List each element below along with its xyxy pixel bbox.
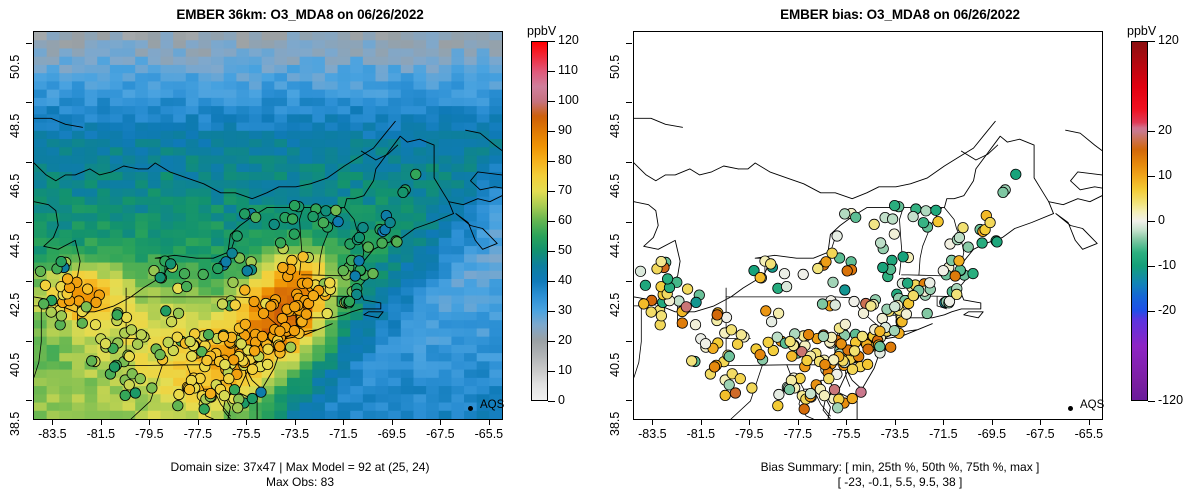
colorbar-label: 80 <box>558 153 572 167</box>
colorbar-tick <box>548 131 555 132</box>
colorbar-tick <box>1148 41 1155 42</box>
model-colorbar-title: ppbV <box>527 24 556 38</box>
panel-bias: EMBER bias: O3_MDA8 on 06/26/2022 -83.5-… <box>600 0 1200 502</box>
y-tick <box>26 281 32 282</box>
colorbar-tick <box>548 71 555 72</box>
y-tick <box>626 341 632 342</box>
x-tick-label: -81.5 <box>87 427 116 441</box>
x-tick-label: -77.5 <box>184 427 213 441</box>
x-tick-label: -75.5 <box>232 427 261 441</box>
model-footer-line1: Domain size: 37x47 | Max Model = 92 at (… <box>0 460 600 475</box>
x-tick-label: -71.5 <box>329 427 358 441</box>
y-tick <box>626 400 632 401</box>
x-tick-label: -83.5 <box>638 427 667 441</box>
colorbar-label: 120 <box>1158 33 1179 47</box>
x-tick-label: -65.5 <box>475 427 504 441</box>
x-tick <box>52 419 53 425</box>
x-tick <box>701 419 702 425</box>
colorbar-tick <box>548 371 555 372</box>
y-tick-label: 38.5 <box>608 400 622 436</box>
y-tick-label: 46.5 <box>8 162 22 198</box>
colorbar-tick <box>548 341 555 342</box>
colorbar-tick <box>1148 176 1155 177</box>
y-tick <box>26 341 32 342</box>
colorbar-label: 90 <box>558 123 572 137</box>
x-tick <box>440 419 441 425</box>
colorbar-tick <box>548 311 555 312</box>
y-tick <box>26 162 32 163</box>
colorbar-tick <box>548 191 555 192</box>
x-tick-label: -79.5 <box>735 427 764 441</box>
bias-footer-line1: Bias Summary: [ min, 25th %, 50th %, 75t… <box>600 460 1200 475</box>
colorbar-label: 0 <box>558 393 565 407</box>
bias-footer-line2: [ -23, -0.1, 5.5, 9.5, 38 ] <box>600 475 1200 490</box>
colorbar-label: 70 <box>558 183 572 197</box>
aqs-legend-dot-right <box>1068 406 1073 411</box>
x-tick <box>846 419 847 425</box>
x-tick <box>992 419 993 425</box>
colorbar-tick <box>1148 311 1155 312</box>
colorbar-label: 110 <box>558 63 578 77</box>
colorbar-label: 20 <box>558 333 572 347</box>
colorbar-label: 40 <box>558 273 572 287</box>
x-tick <box>895 419 896 425</box>
y-tick <box>626 281 632 282</box>
y-tick-label: 48.5 <box>8 102 22 138</box>
colorbar-tick <box>548 221 555 222</box>
y-tick <box>626 43 632 44</box>
y-tick-label: 48.5 <box>608 102 622 138</box>
colorbar-label: 120 <box>558 33 579 47</box>
colorbar-tick <box>548 161 555 162</box>
colorbar-label: -10 <box>1158 258 1176 272</box>
aqs-legend-label-left: AQS <box>480 399 504 411</box>
colorbar-label: 60 <box>558 213 572 227</box>
y-tick <box>26 222 32 223</box>
x-tick-label: -65.5 <box>1075 427 1104 441</box>
colorbar-label: 20 <box>1158 123 1172 137</box>
y-tick <box>26 400 32 401</box>
bias-colorbar-title: ppbV <box>1127 24 1156 38</box>
colorbar-tick <box>1148 131 1155 132</box>
colorbar-tick <box>1148 266 1155 267</box>
panel-model: EMBER 36km: O3_MDA8 on 06/26/2022 -83.5-… <box>0 0 600 502</box>
y-tick-label: 50.5 <box>608 43 622 79</box>
x-tick <box>246 419 247 425</box>
colorbar-tick <box>548 41 555 42</box>
model-map-plot <box>33 31 503 420</box>
x-tick-label: -69.5 <box>378 427 407 441</box>
y-tick <box>26 43 32 44</box>
x-tick <box>1040 419 1041 425</box>
x-tick <box>749 419 750 425</box>
colorbar-tick <box>1148 401 1155 402</box>
colorbar-label: 50 <box>558 243 572 257</box>
y-tick-label: 44.5 <box>608 222 622 258</box>
bias-map-canvas <box>634 32 1102 419</box>
x-tick-label: -73.5 <box>881 427 910 441</box>
x-tick-label: -81.5 <box>687 427 716 441</box>
y-tick <box>626 162 632 163</box>
y-tick-label: 50.5 <box>8 43 22 79</box>
y-tick <box>626 102 632 103</box>
y-tick <box>626 222 632 223</box>
x-tick <box>798 419 799 425</box>
bias-colorbar <box>1131 41 1148 401</box>
x-tick-label: -69.5 <box>978 427 1007 441</box>
x-tick <box>198 419 199 425</box>
x-tick <box>392 419 393 425</box>
aqs-legend-label-right: AQS <box>1080 399 1104 411</box>
x-tick-label: -79.5 <box>135 427 164 441</box>
y-tick-label: 40.5 <box>608 341 622 377</box>
x-tick <box>489 419 490 425</box>
panel-model-title: EMBER 36km: O3_MDA8 on 06/26/2022 <box>0 7 600 22</box>
x-tick-label: -77.5 <box>784 427 813 441</box>
colorbar-label: -120 <box>1158 393 1183 407</box>
x-tick <box>1089 419 1090 425</box>
aqs-legend-dot-left <box>468 406 473 411</box>
colorbar-tick <box>548 101 555 102</box>
panel-bias-title: EMBER bias: O3_MDA8 on 06/26/2022 <box>600 7 1200 22</box>
x-tick <box>149 419 150 425</box>
bias-map-plot <box>633 31 1103 420</box>
model-colorbar <box>531 41 548 401</box>
colorbar-tick <box>1148 221 1155 222</box>
y-tick-label: 42.5 <box>8 281 22 317</box>
colorbar-label: 100 <box>558 93 579 107</box>
x-tick-label: -67.5 <box>1026 427 1055 441</box>
y-tick-label: 44.5 <box>8 222 22 258</box>
figure-root: EMBER 36km: O3_MDA8 on 06/26/2022 -83.5-… <box>0 0 1200 502</box>
x-tick <box>295 419 296 425</box>
x-tick <box>343 419 344 425</box>
colorbar-label: 10 <box>558 363 572 377</box>
x-tick-label: -73.5 <box>281 427 310 441</box>
model-map-canvas <box>34 32 502 419</box>
y-tick-label: 46.5 <box>608 162 622 198</box>
colorbar-label: 30 <box>558 303 572 317</box>
colorbar-label: -20 <box>1158 303 1176 317</box>
x-tick-label: -67.5 <box>426 427 455 441</box>
colorbar-tick <box>548 401 555 402</box>
colorbar-tick <box>548 281 555 282</box>
colorbar-tick <box>548 251 555 252</box>
x-tick <box>652 419 653 425</box>
y-tick-label: 40.5 <box>8 341 22 377</box>
colorbar-label: 0 <box>1158 213 1165 227</box>
x-tick <box>943 419 944 425</box>
y-tick-label: 38.5 <box>8 400 22 436</box>
y-tick <box>26 102 32 103</box>
x-tick <box>101 419 102 425</box>
x-tick-label: -83.5 <box>38 427 67 441</box>
x-tick-label: -75.5 <box>832 427 861 441</box>
colorbar-label: 10 <box>1158 168 1172 182</box>
model-footer-line2: Max Obs: 83 <box>0 475 600 490</box>
x-tick-label: -71.5 <box>929 427 958 441</box>
y-tick-label: 42.5 <box>608 281 622 317</box>
